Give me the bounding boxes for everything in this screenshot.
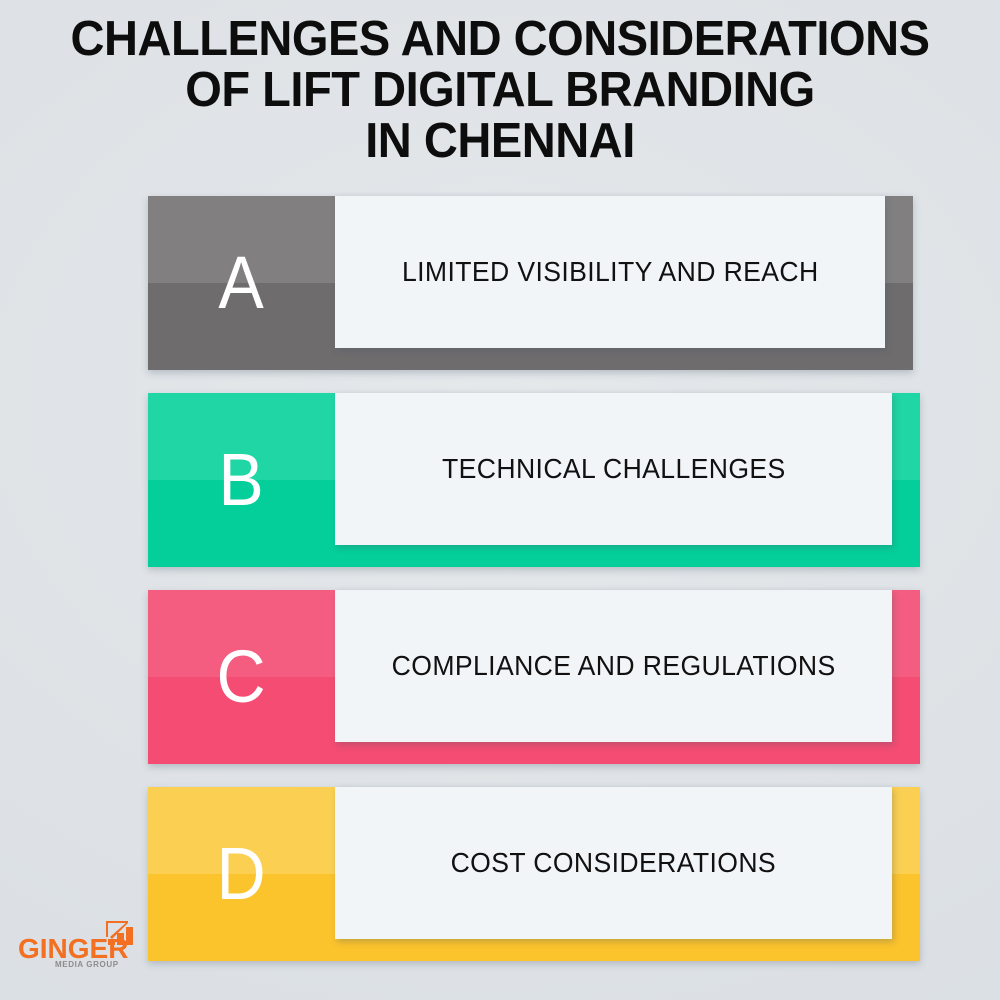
row-label: COMPLIANCE AND REGULATIONS [392, 650, 836, 682]
infographic-canvas: CHALLENGES AND CONSIDERATIONS OF LIFT DI… [0, 0, 1000, 1000]
row-letter: B [155, 393, 327, 567]
row-card: COST CONSIDERATIONS [335, 787, 892, 939]
title-line-1: CHALLENGES AND CONSIDERATIONS [20, 14, 980, 65]
page-title: CHALLENGES AND CONSIDERATIONS OF LIFT DI… [0, 14, 1000, 167]
row-card: LIMITED VISIBILITY AND REACH [335, 196, 885, 348]
title-line-3: IN CHENNAI [20, 116, 980, 167]
list-item[interactable]: B TECHNICAL CHALLENGES [148, 393, 920, 567]
row-letter: D [155, 787, 327, 961]
row-label: COST CONSIDERATIONS [451, 847, 776, 879]
row-letter: A [155, 196, 327, 370]
list-item[interactable]: D COST CONSIDERATIONS [148, 787, 920, 961]
nested-squares-icon [106, 921, 133, 947]
row-label: LIMITED VISIBILITY AND REACH [402, 256, 819, 288]
list-item[interactable]: C COMPLIANCE AND REGULATIONS [148, 590, 920, 764]
logo-subtitle: MEDIA GROUP [55, 961, 119, 969]
ginger-media-group-logo[interactable]: GINGER MEDIA GROUP [18, 921, 136, 973]
row-card: COMPLIANCE AND REGULATIONS [335, 590, 892, 742]
row-letter: C [155, 590, 327, 764]
list-item[interactable]: A LIMITED VISIBILITY AND REACH [148, 196, 913, 370]
row-card: TECHNICAL CHALLENGES [335, 393, 892, 545]
title-line-2: OF LIFT DIGITAL BRANDING [20, 65, 980, 116]
row-label: TECHNICAL CHALLENGES [442, 453, 786, 485]
